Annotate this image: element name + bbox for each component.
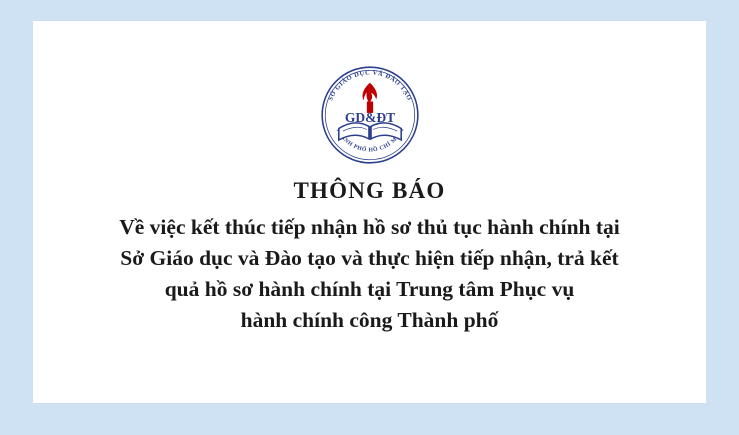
notice-line-3: quả hồ sơ hành chính tại Trung tâm Phục … <box>73 274 666 305</box>
notice-line-2: Sở Giáo dục và Đào tạo và thực hiện tiếp… <box>73 243 666 274</box>
logo-container: SỞ GIÁO DỤC VÀ ĐÀO TẠO THÀNH PHỐ HỒ CHÍ … <box>33 63 706 167</box>
notice-title: THÔNG BÁO <box>73 176 666 206</box>
notice-text-block: THÔNG BÁO Về việc kết thúc tiếp nhận hồ … <box>73 176 666 336</box>
notice-card: SỞ GIÁO DỤC VÀ ĐÀO TẠO THÀNH PHỐ HỒ CHÍ … <box>33 21 706 403</box>
so-giao-duc-dao-tao-emblem-icon: SỞ GIÁO DỤC VÀ ĐÀO TẠO THÀNH PHỐ HỒ CHÍ … <box>318 63 422 167</box>
notice-line-1: Về việc kết thúc tiếp nhận hồ sơ thủ tục… <box>73 212 666 243</box>
notice-line-4: hành chính công Thành phố <box>73 305 666 336</box>
svg-text:GD&ĐT: GD&ĐT <box>344 110 394 125</box>
page-background: SỞ GIÁO DỤC VÀ ĐÀO TẠO THÀNH PHỐ HỒ CHÍ … <box>0 0 739 435</box>
